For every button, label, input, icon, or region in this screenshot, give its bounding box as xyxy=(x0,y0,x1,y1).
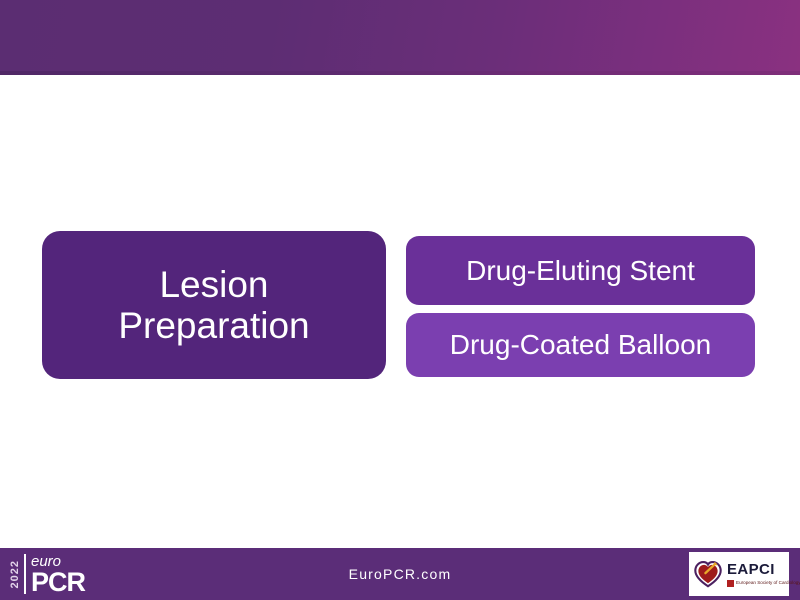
eapci-name: EAPCI xyxy=(727,562,800,577)
eapci-subtitle-row: European Society of Cardiology xyxy=(727,580,800,587)
drug-coated-balloon-label: Drug-Coated Balloon xyxy=(450,329,712,360)
esc-mark-icon xyxy=(727,580,734,587)
diagram-box-drug-coated-balloon: Drug-Coated Balloon xyxy=(406,313,755,377)
drug-eluting-stent-label: Drug-Eluting Stent xyxy=(466,255,695,286)
eapci-logo: EAPCI European Society of Cardiology xyxy=(689,552,789,596)
diagram-box-drug-eluting-stent: Drug-Eluting Stent xyxy=(406,236,755,305)
lesion-preparation-label: Lesion Preparation xyxy=(118,264,309,347)
heart-icon xyxy=(694,560,722,588)
eapci-subtitle: European Society of Cardiology xyxy=(736,581,800,586)
slide-header-band xyxy=(0,0,800,75)
eapci-text-block: EAPCI European Society of Cardiology xyxy=(727,562,800,587)
lesion-preparation-line1: Lesion xyxy=(159,264,268,305)
slide-content-area: Lesion Preparation Drug-Eluting Stent Dr… xyxy=(0,75,800,548)
footer-url: EuroPCR.com xyxy=(0,548,800,600)
lesion-preparation-line2: Preparation xyxy=(118,305,309,346)
footer-url-text: EuroPCR.com xyxy=(349,566,452,582)
slide-footer-band: 2022 euro PCR EuroPCR.com EAPCI European… xyxy=(0,548,800,600)
diagram-box-lesion-preparation: Lesion Preparation xyxy=(42,231,386,379)
